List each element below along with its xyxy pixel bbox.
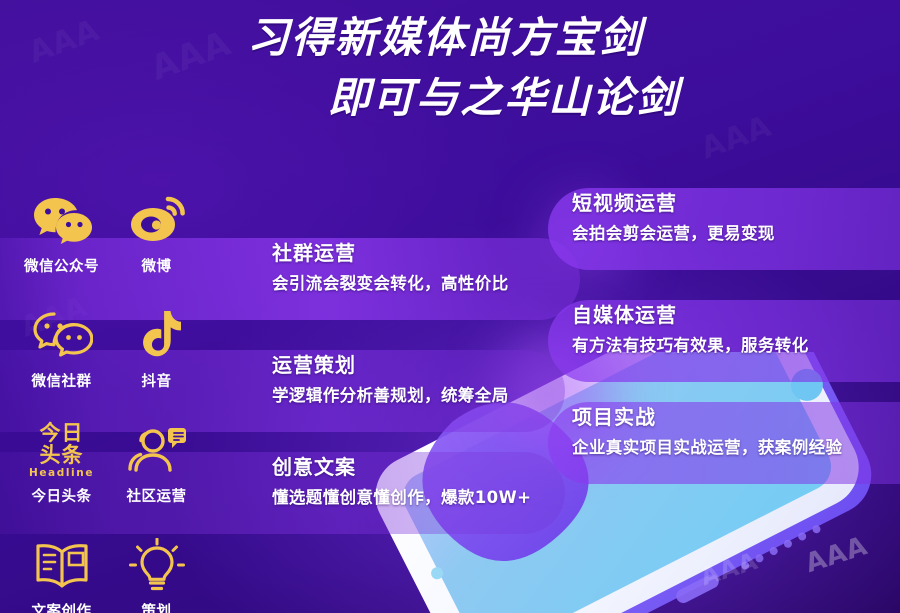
right-card-project-practice[interactable]: 项目实战 企业真实项目实战运营，获案例经验 <box>572 406 842 458</box>
left-card-community-operation[interactable]: 社群运营 会引流会裂变会转化，高性价比 <box>272 242 509 294</box>
title-line-2: 即可与之华山论剑 <box>0 74 900 122</box>
wechat-group-icon <box>31 305 93 367</box>
platform-item-wechat-group[interactable]: 微信社群 <box>14 305 109 410</box>
platform-item-douyin[interactable]: 抖音 <box>109 305 204 410</box>
card-subtitle: 懂选题懂创意懂创作，爆款10W+ <box>272 484 531 508</box>
poster-canvas: AAA AAA AAA AAA 习得新媒体尚方宝剑 即可与之华山论剑 <box>0 0 900 613</box>
right-card-self-media-operation[interactable]: 自媒体运营 有方法有技巧有效果，服务转化 <box>572 304 809 356</box>
copywriting-book-icon <box>32 535 92 597</box>
card-subtitle: 有方法有技巧有效果，服务转化 <box>572 332 809 356</box>
toutiao-icon-text-sub: Headline <box>29 468 94 479</box>
right-card-short-video-operation[interactable]: 短视频运营 会拍会剪会运营，更易变现 <box>572 192 775 244</box>
platform-label: 社区运营 <box>127 485 187 506</box>
platform-item-community-operation[interactable]: 社区运营 <box>109 420 204 525</box>
card-title: 创意文案 <box>272 456 531 478</box>
left-card-creative-copywriting[interactable]: 创意文案 懂选题懂创意懂创作，爆款10W+ <box>272 456 531 508</box>
card-title: 运营策划 <box>272 354 509 376</box>
toutiao-icon-text-bottom: 头条 <box>39 445 83 466</box>
card-subtitle: 企业真实项目实战运营，获案例经验 <box>572 434 842 458</box>
card-title: 项目实战 <box>572 406 842 428</box>
weibo-icon <box>127 190 187 252</box>
card-title: 短视频运营 <box>572 192 775 214</box>
card-title: 社群运营 <box>272 242 509 264</box>
title-line-1: 习得新媒体尚方宝剑 <box>0 14 900 62</box>
platform-item-planning[interactable]: 策划 <box>109 535 204 613</box>
community-operation-icon <box>127 420 187 482</box>
platform-label: 微信社群 <box>32 370 92 391</box>
platform-label: 策划 <box>142 600 172 613</box>
poster-title: 习得新媒体尚方宝剑 即可与之华山论剑 <box>0 0 900 122</box>
platform-label: 抖音 <box>142 370 172 391</box>
card-subtitle: 学逻辑作分析善规划，统筹全局 <box>272 382 509 406</box>
idea-bulb-icon <box>129 535 185 597</box>
platform-icon-grid: 微信公众号 微博 <box>14 190 204 613</box>
left-card-operation-planning[interactable]: 运营策划 学逻辑作分析善规划，统筹全局 <box>272 354 509 406</box>
platform-label: 微博 <box>142 255 172 276</box>
douyin-icon <box>132 305 182 367</box>
platform-item-copywriting[interactable]: 文案创作 <box>14 535 109 613</box>
card-title: 自媒体运营 <box>572 304 809 326</box>
wechat-official-account-icon <box>31 190 93 252</box>
platform-label: 今日头条 <box>32 485 92 506</box>
platform-label: 文案创作 <box>32 600 92 613</box>
card-subtitle: 会拍会剪会运营，更易变现 <box>572 220 775 244</box>
platform-item-weibo[interactable]: 微博 <box>109 190 204 295</box>
platform-item-wechat-official-account[interactable]: 微信公众号 <box>14 190 109 295</box>
platform-item-toutiao[interactable]: 今日 头条 Headline 今日头条 <box>14 420 109 525</box>
card-subtitle: 会引流会裂变会转化，高性价比 <box>272 270 509 294</box>
platform-label: 微信公众号 <box>24 255 99 276</box>
toutiao-icon-text-top: 今日 <box>39 423 83 444</box>
toutiao-icon: 今日 头条 Headline <box>29 420 94 482</box>
